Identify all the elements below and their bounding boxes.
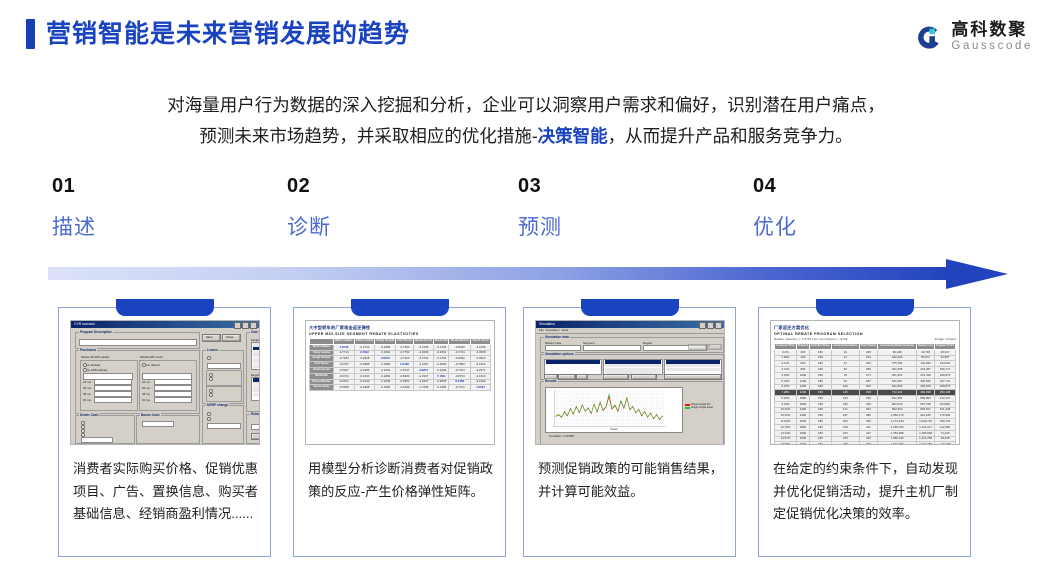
card-tab-marker [816, 299, 914, 316]
card-describe[interactable]: CVR scenario Program Description Purchas… [58, 307, 271, 557]
slide-header: 营销智能是未来营销发展的趋势 高科数聚 Gausscode [0, 0, 1051, 72]
rebate-cell: 15.88% [775, 442, 797, 445]
gausscode-logo-icon [913, 22, 944, 53]
page-title: 营销智能是未来营销发展的趋势 [26, 19, 410, 49]
rebate-subtitle: Rebate elasticity = 0.8752 Unit Contribu… [774, 337, 847, 341]
win-title-text: CVR scenario [74, 322, 95, 326]
brand-logo: 高科数聚 Gausscode [913, 16, 1033, 58]
matrix-cell: -1.7436 [413, 385, 433, 391]
step-label: 描述 [52, 217, 252, 238]
step-01: 01 描述 [52, 176, 252, 238]
card-tab-marker [351, 299, 449, 316]
rebate-cell: 1,534,487 [878, 442, 917, 445]
table-row: 15.88%34001802654581,534,4871,547,286-12… [775, 442, 956, 445]
intro-line-1: 对海量用户行为数据的深入挖掘和分析，企业可以洞察用户需求和偏好，识别潜在用户痛点… [167, 95, 885, 115]
rebate-cell: 3400 [797, 442, 810, 445]
matrix-cell: -0.6189 [396, 385, 413, 391]
card-caption: 在给定的约束条件下，自动发现并优化促销活动，提升主机厂制定促销优化决策的效率。 [773, 458, 958, 526]
title-accent-bar [26, 19, 35, 49]
legend-swatch-actual [685, 407, 690, 408]
window-controls-icon [234, 322, 257, 329]
page-title-text: 营销智能是未来营销发展的趋势 [46, 22, 410, 47]
card-tab-marker [581, 299, 679, 316]
legend-label-actual: Dodge Intrepid actual [691, 407, 713, 409]
card-row: CVR scenario Program Description Purchas… [0, 299, 1051, 559]
card-screenshot-matrix: 大中型轿车的厂家现金返还弹性 UPPER MID-SIZE SEGMENT RE… [305, 320, 495, 445]
elasticity-matrix-table: Buick LeSabreChevy LuminaDodge IntrepidF… [309, 338, 491, 391]
card-caption: 用模型分析诊断消费者对促销政策的反应-产生价格弹性矩阵。 [308, 458, 493, 503]
card-predict[interactable]: Simulation File Simulation Tools Simulat… [523, 307, 736, 557]
rebate-note: Dodge Intrepid [935, 337, 956, 341]
card-caption: 预测促销政策的可能销售结果，并计算可能效益。 [538, 458, 723, 503]
card-tab-marker [116, 299, 214, 316]
step-number: 02 [287, 176, 487, 196]
brand-name-cn: 高科数聚 [951, 21, 1033, 38]
rebate-title-cn: 厂家返还方案优化 [774, 325, 956, 331]
progress-arrow [48, 259, 1008, 289]
window-controls-icon [699, 322, 722, 329]
brand-name-en: Gausscode [951, 41, 1033, 53]
progress-arrow-head-icon [946, 259, 1008, 289]
optimal-rebate-table: Customer PriceRebate $Incentive ShareInc… [774, 343, 956, 445]
matrix-cell: -0.7371 [449, 385, 471, 391]
progress-arrow-shaft [48, 267, 953, 280]
intro-highlight: 决策智能 [538, 126, 608, 146]
step-number: 01 [52, 176, 252, 196]
step-02: 02 诊断 [287, 176, 487, 238]
brand-logo-text: 高科数聚 Gausscode [951, 21, 1033, 53]
intro-line-2a: 预测未来市场趋势，并采取相应的优化措施- [199, 126, 537, 146]
step-labels: 01 描述 02 诊断 03 预测 04 优化 [52, 176, 1000, 248]
matrix-cell: -0.5645 [333, 385, 354, 391]
card-screenshot-dialog: CVR scenario Program Description Purchas… [70, 320, 260, 445]
card-screenshot-simulation: Simulation File Simulation Tools Simulat… [535, 320, 725, 445]
rebate-cell: 1,547,286 [917, 442, 935, 445]
step-label: 诊断 [287, 217, 487, 238]
matrix-cell: -0.2386 [434, 385, 449, 391]
rebate-title-en: OPTIMAL REBATE PROGRAM SELECTION [774, 332, 956, 336]
step-label: 预测 [518, 217, 718, 238]
correlation-footnote: Correlation = 0.96586 [549, 435, 574, 438]
matrix-title-en: UPPER MID-SIZE SEGMENT REBATE ELASTICITI… [309, 332, 491, 336]
step-04: 04 优化 [753, 176, 953, 238]
card-caption: 消费者实际购买价格、促销优惠项目、广告、置换信息、购买者基础信息、经销商盈利情况… [73, 458, 258, 526]
card-diagnose[interactable]: 大中型轿车的厂家现金返还弹性 UPPER MID-SIZE SEGMENT RE… [293, 307, 506, 557]
card-screenshot-rebate-table: 厂家返还方案优化 OPTIMAL REBATE PROGRAM SELECTIO… [770, 320, 960, 445]
legend-label-sim: Dodge Intrepid sim [691, 404, 710, 406]
rebate-cell: 265 [831, 442, 859, 445]
step-number: 03 [518, 176, 718, 196]
rebate-cell: 458 [859, 442, 877, 445]
matrix-cell: -0.1660 [375, 385, 396, 391]
card-optimize[interactable]: 厂家返还方案优化 OPTIMAL REBATE PROGRAM SELECTIO… [758, 307, 971, 557]
matrix-cell: 4.2561 [471, 385, 491, 391]
step-03: 03 预测 [518, 176, 718, 238]
matrix-title-cn: 大中型轿车的厂家现金返还弹性 [309, 325, 491, 331]
step-label: 优化 [753, 217, 953, 238]
chart-xlabel: Weeks [546, 428, 682, 431]
intro-paragraph: 对海量用户行为数据的深入挖掘和分析，企业可以洞察用户需求和偏好，识别潜在用户痛点… [52, 90, 1000, 152]
matrix-cell: -0.1988 [354, 385, 375, 391]
matrix-row-header: Toyota Camry [310, 385, 334, 391]
intro-line-2b: ，从而提升产品和服务竞争力。 [608, 126, 853, 146]
step-number: 04 [753, 176, 953, 196]
rebate-cell: 180 [809, 442, 831, 445]
slide-root: 营销智能是未来营销发展的趋势 高科数聚 Gausscode 对海量用户行为数据的… [0, 0, 1051, 586]
table-row: Toyota Camry-0.5645-0.1988-0.1660-0.6189… [310, 385, 491, 391]
rebate-cell: -123,789 [935, 442, 956, 445]
legend-swatch-sim [685, 404, 690, 405]
